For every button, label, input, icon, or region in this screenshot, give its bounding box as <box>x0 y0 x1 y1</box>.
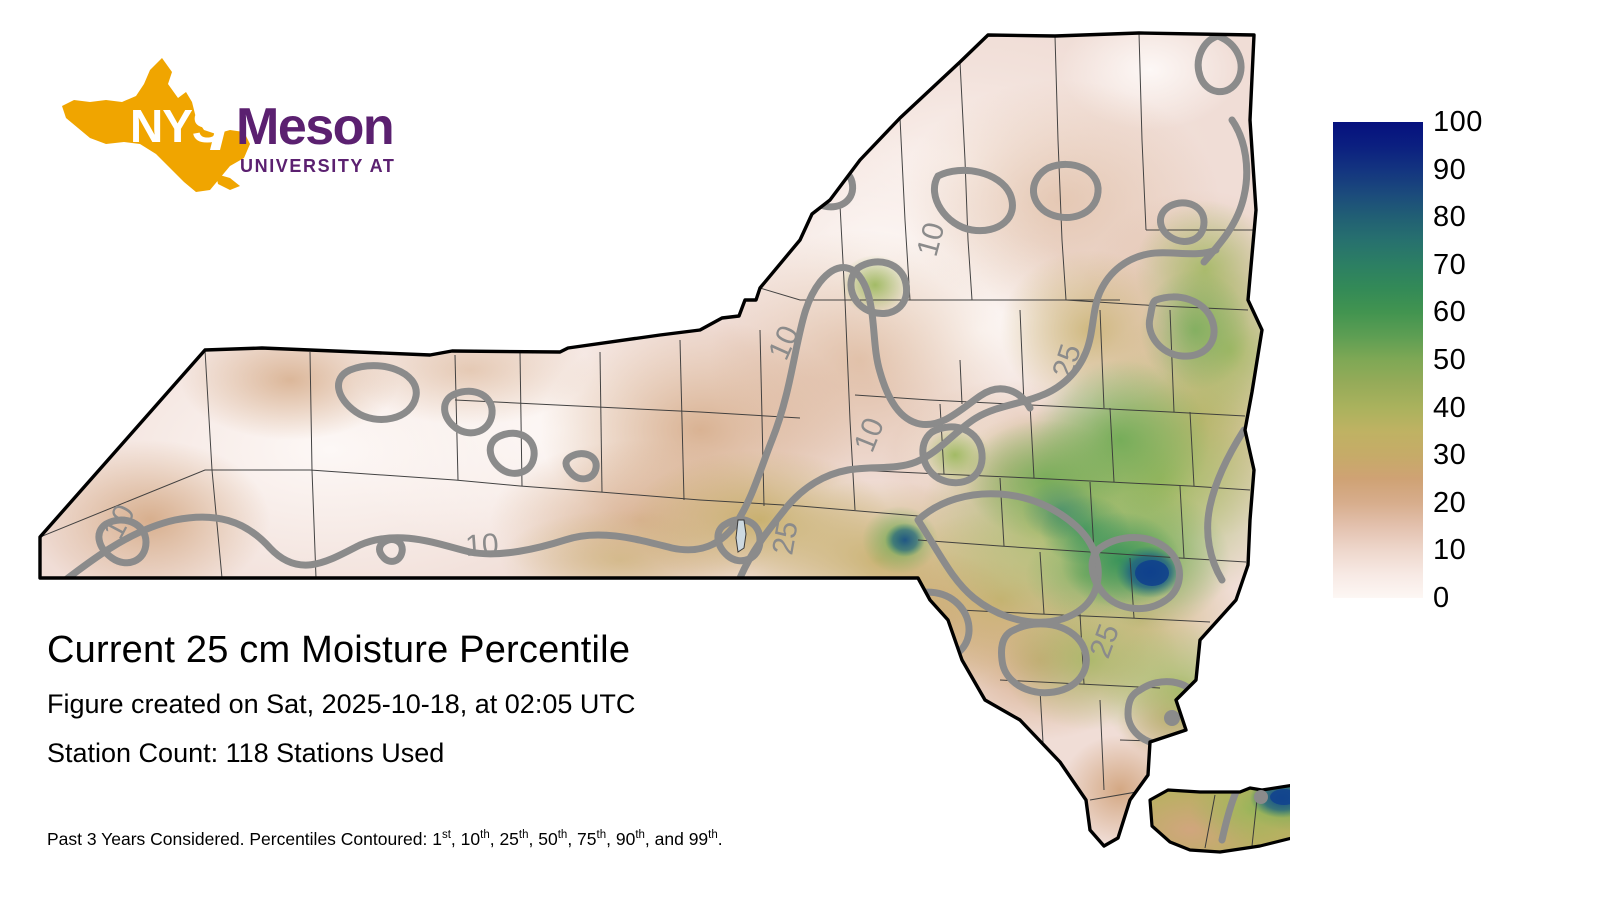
colorbar-tick-40: 40 <box>1433 394 1466 423</box>
moisture-percentile-colorbar <box>1333 122 1423 598</box>
colorbar-tick-30: 30 <box>1433 441 1466 470</box>
ordinal-suffix: st <box>442 829 451 841</box>
lake-sliver <box>736 520 746 552</box>
contour-label: 10 <box>464 528 500 563</box>
logo-mesonet: Mesonet <box>236 98 394 156</box>
station-marker-long-island <box>1254 790 1268 804</box>
station-markers <box>1164 710 1180 726</box>
ordinal-suffix: th <box>558 829 568 841</box>
figure-canvas: 10 10 10 10 10 25 25 25 NYS Mesonet UNIV… <box>0 0 1600 900</box>
nys-mesonet-logo: NYS Mesonet UNIVERSITY AT ALBANY <box>44 58 394 193</box>
contour-label: 25 <box>766 519 804 558</box>
colorbar-tick-20: 20 <box>1433 489 1466 518</box>
figure-created-line: Figure created on Sat, 2025-10-18, at 02… <box>47 688 1047 721</box>
colorbar-tick-80: 80 <box>1433 203 1466 232</box>
colorbar-tick-90: 90 <box>1433 156 1466 185</box>
colorbar-tick-70: 70 <box>1433 251 1466 280</box>
colorbar-tick-100: 100 <box>1433 108 1483 137</box>
contour-footnote: Past 3 Years Considered. Percentiles Con… <box>47 828 723 850</box>
colorbar-gradient <box>1333 122 1423 598</box>
logo-tagline: UNIVERSITY AT ALBANY <box>240 156 394 176</box>
ordinal-suffix: th <box>597 829 607 841</box>
ordinal-suffix: th <box>480 829 490 841</box>
station-count-line: Station Count: 118 Stations Used <box>47 737 1047 770</box>
colorbar-tick-10: 10 <box>1433 536 1466 565</box>
colorbar-tick-50: 50 <box>1433 346 1466 375</box>
ordinal-suffix: th <box>519 829 529 841</box>
ordinal-suffix: th <box>635 829 645 841</box>
colorbar-tick-labels: 1009080706050403020100 <box>1433 104 1523 624</box>
caption-block: Current 25 cm Moisture Percentile Figure… <box>47 628 1047 770</box>
colorbar-tick-0: 0 <box>1433 584 1450 613</box>
colorbar-tick-60: 60 <box>1433 298 1466 327</box>
ordinal-suffix: th <box>708 829 718 841</box>
figure-title: Current 25 cm Moisture Percentile <box>47 628 1047 672</box>
logo-nys: NYS <box>130 100 222 152</box>
